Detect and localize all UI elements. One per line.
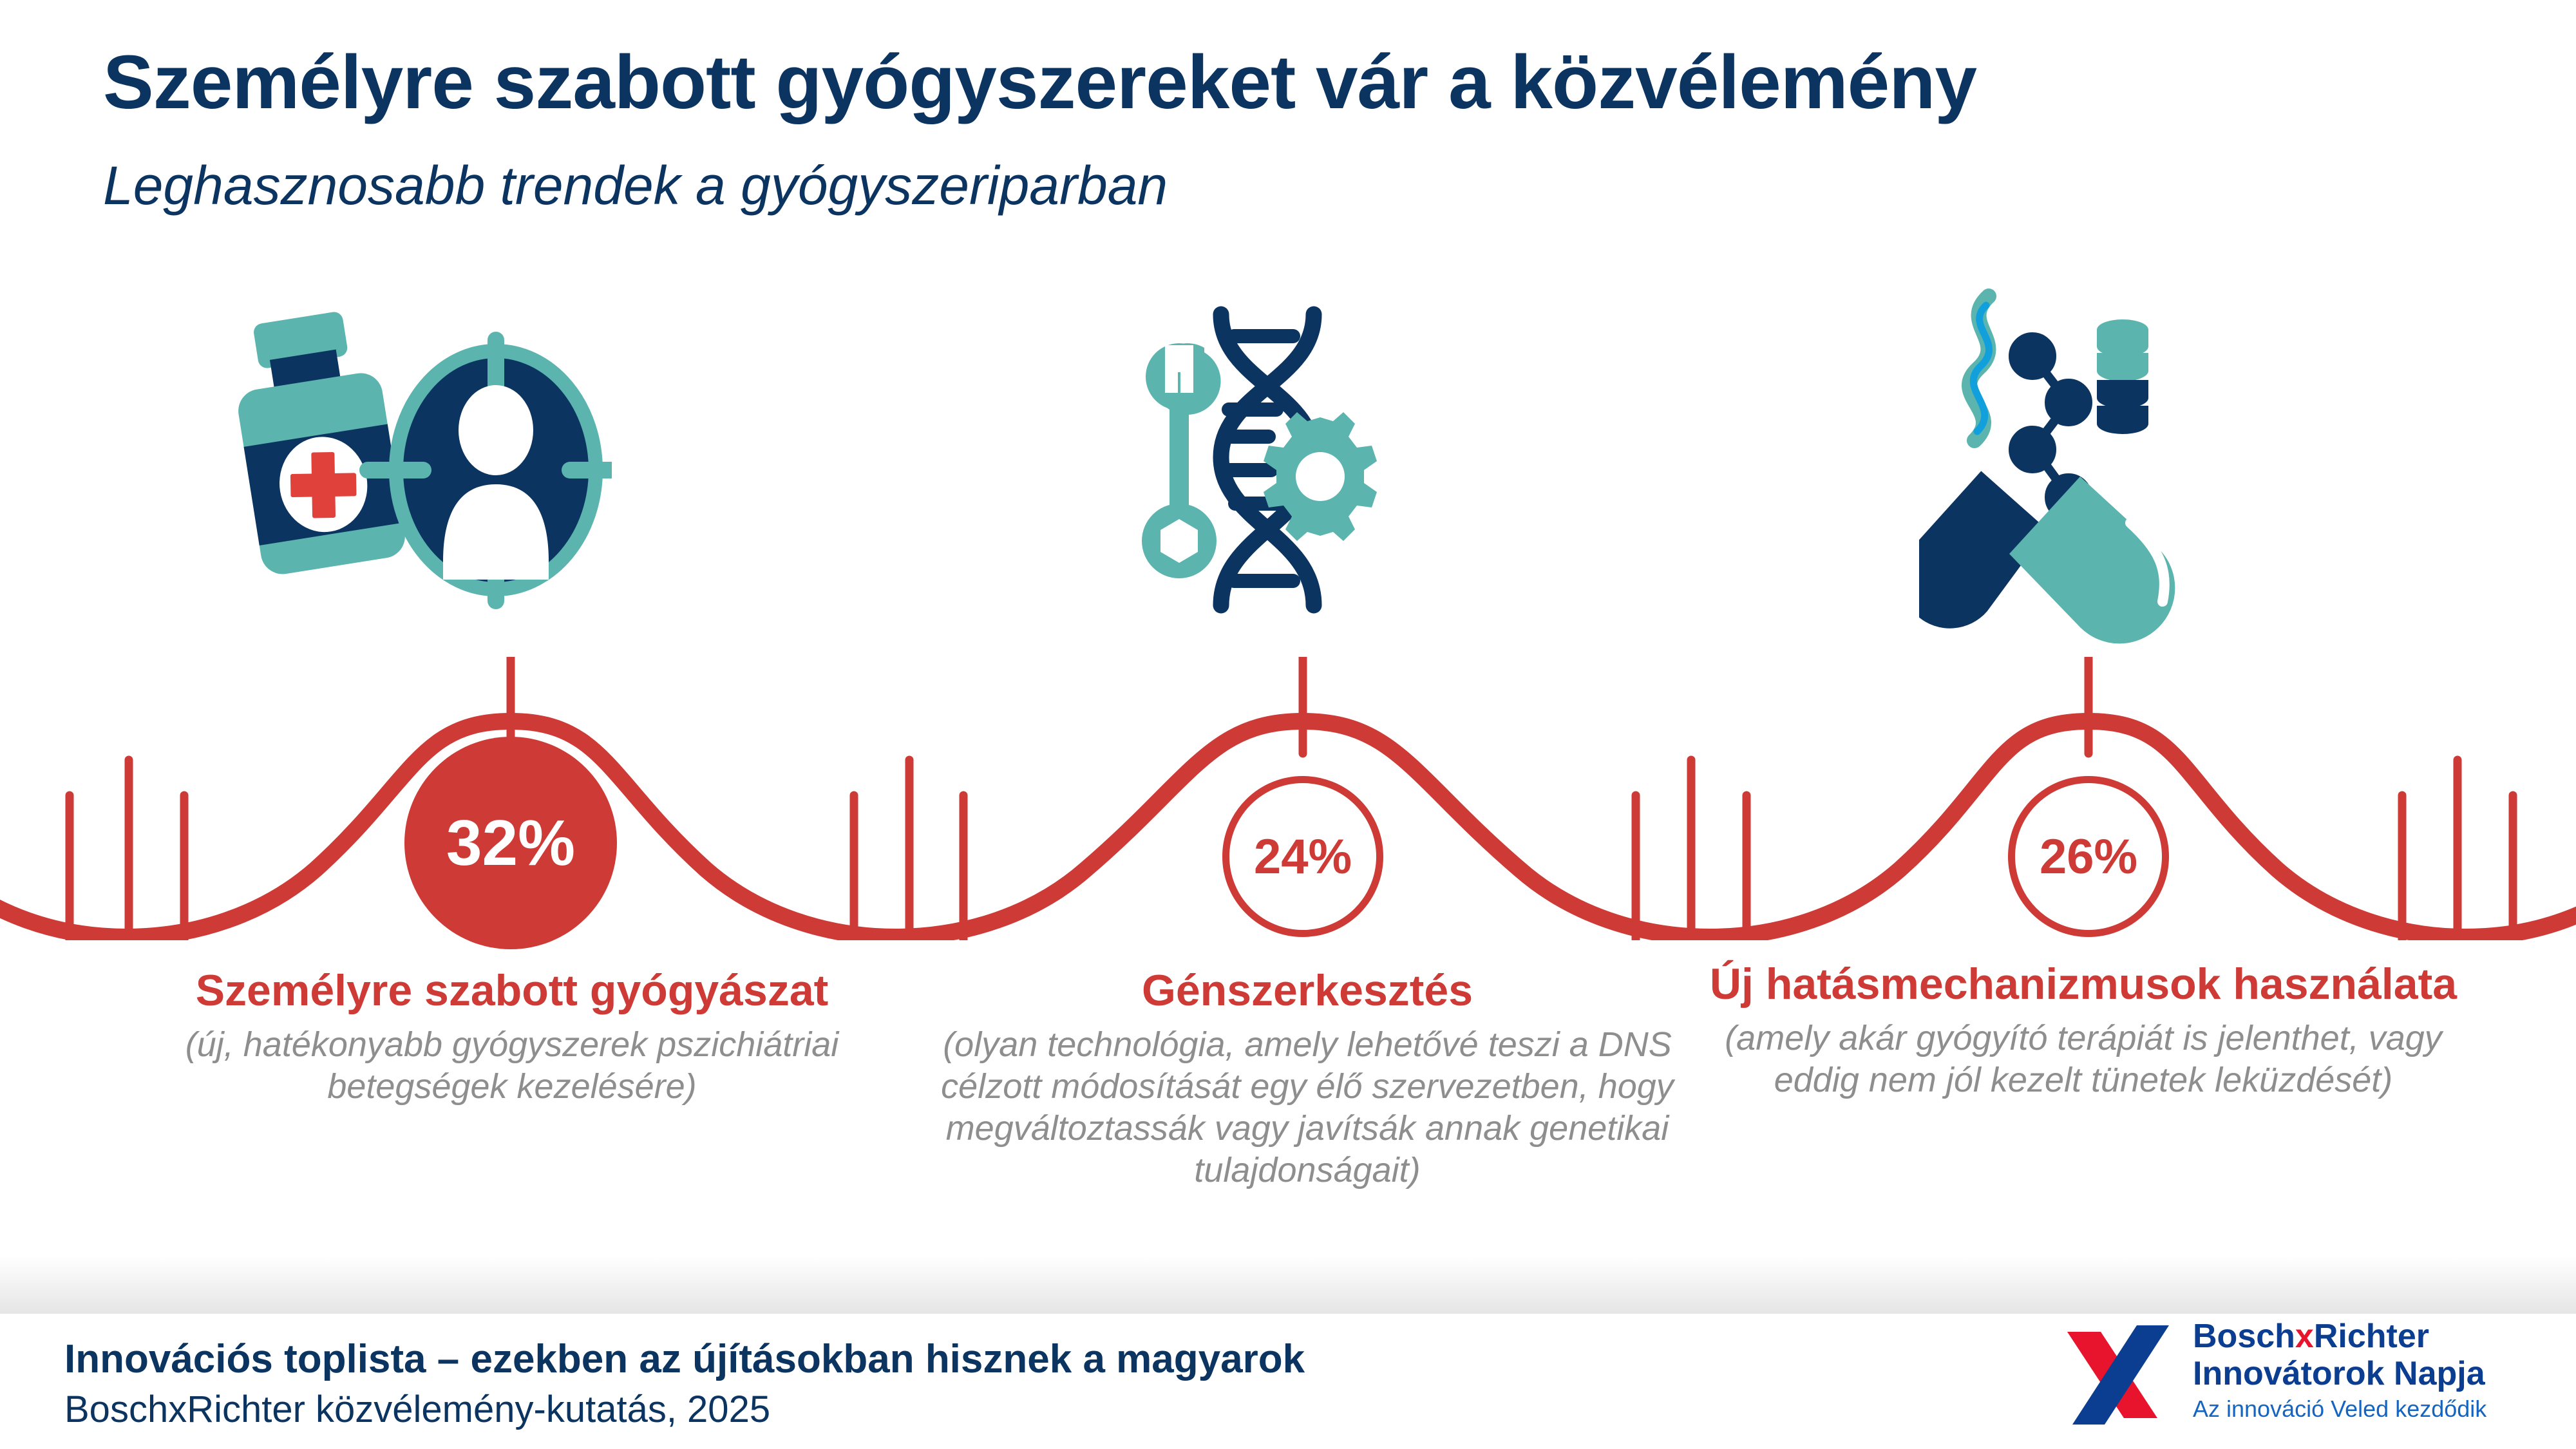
percent-badge-gene-editing: 24% <box>1222 776 1383 937</box>
caption-title: Személyre szabott gyógyászat <box>116 966 908 1015</box>
icon-group-personalized-medicine <box>213 283 612 654</box>
icon-group-new-mechanisms <box>1919 283 2318 654</box>
caption-new-mechanisms: Új hatásmechanizmusok használata (amely … <box>1687 960 2479 1101</box>
page-title: Személyre szabott gyógyszereket vár a kö… <box>103 39 1976 126</box>
caption-description: (olyan technológia, amely lehetővé teszi… <box>927 1024 1687 1191</box>
caption-gene-editing: Génszerkesztés (olyan technológia, amely… <box>927 966 1687 1191</box>
icon-group-1-svg <box>213 283 612 650</box>
caption-personalized-medicine: Személyre szabott gyógyászat (új, hatéko… <box>116 966 908 1108</box>
person-target-icon <box>359 332 612 609</box>
percent-value: 26% <box>2040 829 2137 885</box>
logo-brand-richter: Richter <box>2314 1318 2429 1355</box>
percent-badge-new-mechanisms: 26% <box>2008 776 2169 937</box>
icons-layer <box>0 270 2576 670</box>
logo-x-mark-icon <box>2061 1320 2180 1430</box>
logo-line1: BoschxRichter <box>2193 1318 2541 1355</box>
caption-title: Új hatásmechanizmusok használata <box>1687 960 2479 1009</box>
footer-divider-shadow <box>0 1256 2576 1314</box>
caption-description: (amely akár gyógyító terápiát is jelenth… <box>1687 1018 2479 1101</box>
footer-subtitle: BoschxRichter közvélemény-kutatás, 2025 <box>64 1388 770 1431</box>
logo-text: BoschxRichter Innovátorok Napja Az innov… <box>2193 1318 2541 1423</box>
percent-value: 32% <box>446 806 575 880</box>
percent-value: 24% <box>1254 829 1352 885</box>
logo-tagline: Az innováció Veled kezdődik <box>2193 1395 2541 1423</box>
logo-brand-bosch: Bosch <box>2193 1318 2295 1355</box>
pill-bottle-icon <box>225 307 408 578</box>
page-subtitle: Leghasznosabb trendek a gyógyszeriparban <box>103 155 1168 217</box>
header: Személyre szabott gyógyszereket vár a kö… <box>0 0 2576 277</box>
caption-title: Génszerkesztés <box>927 966 1687 1015</box>
helix-strand-icon <box>1969 296 1989 440</box>
logo-line2: Innovátorok Napja <box>2193 1355 2541 1392</box>
icon-group-3-svg <box>1919 283 2318 650</box>
icon-group-2-svg <box>1114 283 1397 644</box>
caption-description: (új, hatékonyabb gyógyszerek pszichiátri… <box>116 1024 908 1108</box>
wave-peak-stems <box>511 657 2088 753</box>
logo-x-separator: x <box>2295 1318 2314 1355</box>
logo: BoschxRichter Innovátorok Napja Az innov… <box>2061 1314 2537 1439</box>
icon-group-gene-editing <box>1114 283 1397 647</box>
footer-title: Innovációs toplista – ezekben az újításo… <box>64 1336 1305 1382</box>
percent-badge-personalized-medicine: 32% <box>404 737 617 949</box>
pill-stack-icon <box>2097 319 2148 434</box>
wrench-icon <box>1142 343 1221 578</box>
